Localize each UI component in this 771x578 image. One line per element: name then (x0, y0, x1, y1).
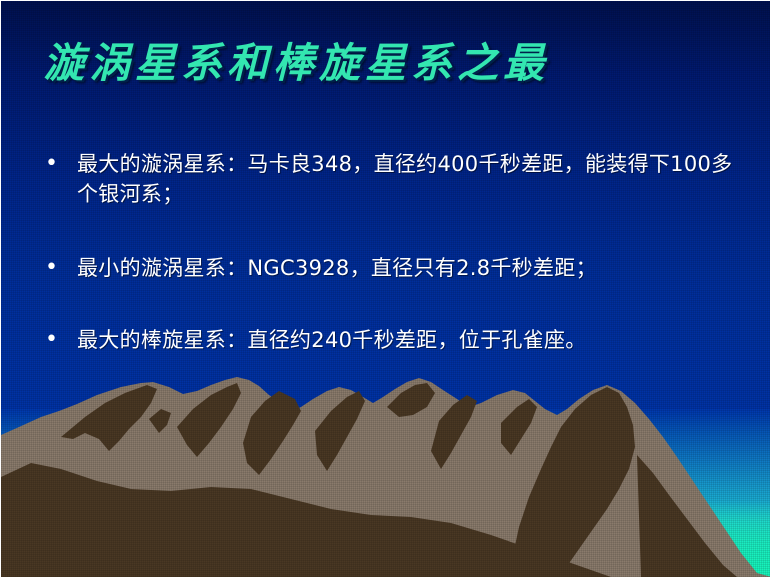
bullet-text: 最大的漩涡星系：马卡良348，直径约400千秒差距，能装得下100多个银河系； (77, 149, 741, 209)
bullet-text: 最小的漩涡星系：NGC3928，直径只有2.8千秒差距； (77, 253, 741, 283)
bullet-dot-icon: • (41, 149, 77, 179)
bullet-text: 最大的棒旋星系：直径约240千秒差距，位于孔雀座。 (77, 325, 741, 355)
bullet-dot-icon: • (41, 325, 77, 355)
slide-title: 漩涡星系和棒旋星系之最 (43, 39, 733, 88)
bullet-dot-icon: • (41, 253, 77, 283)
bullet-item: • 最大的漩涡星系：马卡良348，直径约400千秒差距，能装得下100多个银河系… (41, 149, 741, 209)
mountain-range-graphic (1, 377, 771, 577)
bullet-item: • 最大的棒旋星系：直径约240千秒差距，位于孔雀座。 (41, 325, 741, 355)
slide-body: • 最大的漩涡星系：马卡良348，直径约400千秒差距，能装得下100多个银河系… (41, 149, 741, 355)
presentation-slide: 漩涡星系和棒旋星系之最 • 最大的漩涡星系：马卡良348，直径约400千秒差距，… (0, 0, 771, 578)
bullet-item: • 最小的漩涡星系：NGC3928，直径只有2.8千秒差距； (41, 253, 741, 283)
